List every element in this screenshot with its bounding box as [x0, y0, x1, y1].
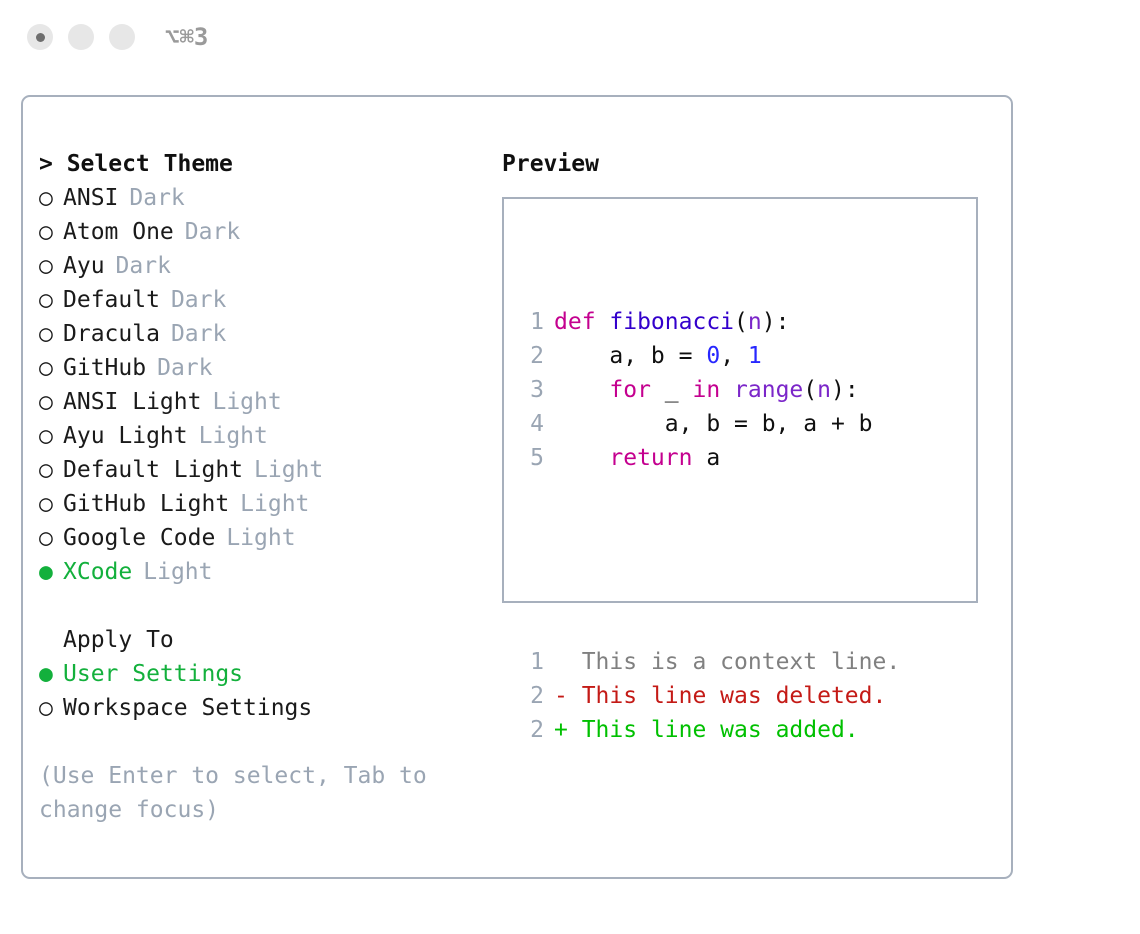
preview-code: 1def fibonacci(n):2 a, b = 0, 13 for _ i… [504, 199, 976, 815]
theme-selector-panel: > Select Theme ○ANSIDark○Atom OneDark○Ay… [21, 95, 1013, 879]
theme-option-kind: Dark [171, 317, 226, 351]
window-control-dot-2[interactable] [68, 24, 94, 50]
radio-unselected-icon[interactable]: ○ [39, 691, 63, 725]
code-line-number: 4 [514, 407, 544, 441]
code-line-number: 2 [514, 339, 544, 373]
apply-to-option-label: User Settings [63, 657, 243, 691]
preview-heading: Preview [502, 147, 1002, 181]
diff-sign [554, 649, 568, 675]
code-blank-line [514, 543, 976, 577]
code-token-plain [554, 445, 609, 471]
theme-option-kind: Dark [185, 215, 240, 249]
code-token-num: 0 [706, 343, 720, 369]
preview-column: Preview 1def fibonacci(n):2 a, b = 0, 13… [502, 147, 1002, 603]
radio-unselected-icon[interactable]: ○ [39, 317, 63, 351]
code-token-plain: a [692, 445, 720, 471]
code-token-fn: fibonacci [609, 309, 734, 335]
theme-option-kind: Light [199, 419, 268, 453]
theme-option-name: Dracula [63, 317, 160, 351]
code-sample: 1def fibonacci(n):2 a, b = 0, 13 for _ i… [514, 305, 976, 475]
theme-option-name: Ayu Light [63, 419, 188, 453]
radio-unselected-icon[interactable]: ○ [39, 453, 63, 487]
diff-sign: + [554, 717, 568, 743]
diff-text: This line was added. [568, 717, 859, 743]
code-line-number: 3 [514, 373, 544, 407]
diff-text: This is a context line. [568, 649, 900, 675]
diff-text: This line was deleted. [568, 683, 887, 709]
theme-option-name: Google Code [63, 521, 215, 555]
theme-option-name: XCode [63, 555, 132, 589]
code-token-kw: return [609, 445, 692, 471]
code-token-plain [554, 377, 609, 403]
theme-option-kind: Dark [157, 351, 212, 385]
code-line-number: 5 [514, 441, 544, 475]
theme-list-column: > Select Theme ○ANSIDark○Atom OneDark○Ay… [39, 147, 489, 827]
radio-unselected-icon[interactable]: ○ [39, 215, 63, 249]
theme-option-row[interactable]: ○Default LightLight [39, 453, 489, 487]
code-line: 3 for _ in range(n): [514, 373, 976, 407]
code-token-plain: ( [803, 377, 817, 403]
radio-selected-icon[interactable]: ● [39, 657, 63, 691]
diff-sign: - [554, 683, 568, 709]
window-control-dot-3[interactable] [109, 24, 135, 50]
diff-line: 2+ This line was added. [514, 713, 976, 747]
diff-line-number: 2 [514, 679, 544, 713]
theme-option-name: ANSI [63, 181, 118, 215]
keyboard-hint: (Use Enter to select, Tab to change focu… [39, 759, 459, 827]
active-dot-inner [36, 33, 45, 42]
theme-option-kind: Dark [116, 249, 171, 283]
radio-unselected-icon[interactable]: ○ [39, 351, 63, 385]
theme-option-kind: Light [226, 521, 295, 555]
diff-line-number: 1 [514, 645, 544, 679]
theme-option-row[interactable]: ○GitHub LightLight [39, 487, 489, 521]
code-token-plain: _ [651, 377, 693, 403]
code-line-number: 1 [514, 305, 544, 339]
code-token-call: range [734, 377, 803, 403]
code-token-num: 1 [748, 343, 762, 369]
theme-option-kind: Dark [171, 283, 226, 317]
theme-option-row[interactable]: ●XCodeLight [39, 555, 489, 589]
radio-unselected-icon[interactable]: ○ [39, 521, 63, 555]
code-token-var: n [748, 309, 762, 335]
radio-unselected-icon[interactable]: ○ [39, 283, 63, 317]
theme-option-name: Default [63, 283, 160, 317]
theme-option-row[interactable]: ○ANSIDark [39, 181, 489, 215]
code-token-kw: in [692, 377, 720, 403]
code-token-kw: def [554, 309, 609, 335]
theme-option-name: Ayu [63, 249, 105, 283]
code-token-plain: a, b = b, a + b [554, 411, 873, 437]
apply-to-option-row[interactable]: ●User Settings [39, 657, 489, 691]
theme-option-name: GitHub [63, 351, 146, 385]
select-theme-heading: > Select Theme [39, 147, 489, 181]
theme-option-name: Atom One [63, 215, 174, 249]
code-line: 5 return a [514, 441, 976, 475]
radio-unselected-icon[interactable]: ○ [39, 419, 63, 453]
theme-option-kind: Light [212, 385, 281, 419]
panel-columns: > Select Theme ○ANSIDark○Atom OneDark○Ay… [23, 97, 1011, 877]
apply-to-option-list: ●User Settings○Workspace Settings [39, 657, 489, 725]
theme-option-name: GitHub Light [63, 487, 229, 521]
section-spacer [39, 589, 489, 623]
radio-unselected-icon[interactable]: ○ [39, 181, 63, 215]
theme-option-name: ANSI Light [63, 385, 201, 419]
diff-sample: 1 This is a context line.2- This line wa… [514, 645, 976, 747]
diff-line: 1 This is a context line. [514, 645, 976, 679]
theme-option-name: Default Light [63, 453, 243, 487]
code-line: 2 a, b = 0, 1 [514, 339, 976, 373]
theme-option-row[interactable]: ○AyuDark [39, 249, 489, 283]
theme-list: ○ANSIDark○Atom OneDark○AyuDark○DefaultDa… [39, 181, 489, 589]
diff-line: 2- This line was deleted. [514, 679, 976, 713]
code-token-plain: ): [762, 309, 790, 335]
theme-option-row[interactable]: ○GitHubDark [39, 351, 489, 385]
radio-unselected-icon[interactable]: ○ [39, 487, 63, 521]
apply-to-option-label: Workspace Settings [63, 691, 312, 725]
theme-option-kind: Dark [129, 181, 184, 215]
theme-option-kind: Light [240, 487, 309, 521]
code-token-plain [720, 377, 734, 403]
theme-option-row[interactable]: ○Ayu LightLight [39, 419, 489, 453]
keyboard-shortcut-label: ⌥⌘3 [165, 22, 208, 52]
code-token-plain: ( [734, 309, 748, 335]
window-controls [27, 24, 135, 50]
code-token-plain: a, b = [554, 343, 706, 369]
radio-unselected-icon[interactable]: ○ [39, 249, 63, 283]
code-token-kw: for [609, 377, 651, 403]
theme-option-row[interactable]: ○DraculaDark [39, 317, 489, 351]
window-titlebar: ⌥⌘3 [0, 0, 1140, 78]
theme-option-row[interactable]: ○Google CodeLight [39, 521, 489, 555]
apply-to-option-row[interactable]: ○Workspace Settings [39, 691, 489, 725]
code-line: 1def fibonacci(n): [514, 305, 976, 339]
theme-option-row[interactable]: ○Atom OneDark [39, 215, 489, 249]
theme-option-row[interactable]: ○DefaultDark [39, 283, 489, 317]
preview-box: 1def fibonacci(n):2 a, b = 0, 13 for _ i… [502, 197, 978, 603]
code-token-plain: ): [831, 377, 859, 403]
radio-selected-icon[interactable]: ● [39, 555, 63, 589]
theme-option-kind: Light [143, 555, 212, 589]
diff-line-number: 2 [514, 713, 544, 747]
theme-option-kind: Light [254, 453, 323, 487]
code-token-var: n [817, 377, 831, 403]
code-line: 4 a, b = b, a + b [514, 407, 976, 441]
radio-unselected-icon[interactable]: ○ [39, 385, 63, 419]
window-control-active-dot[interactable] [27, 24, 53, 50]
apply-to-heading: Apply To [39, 623, 489, 657]
code-token-plain: , [720, 343, 748, 369]
theme-option-row[interactable]: ○ANSI LightLight [39, 385, 489, 419]
